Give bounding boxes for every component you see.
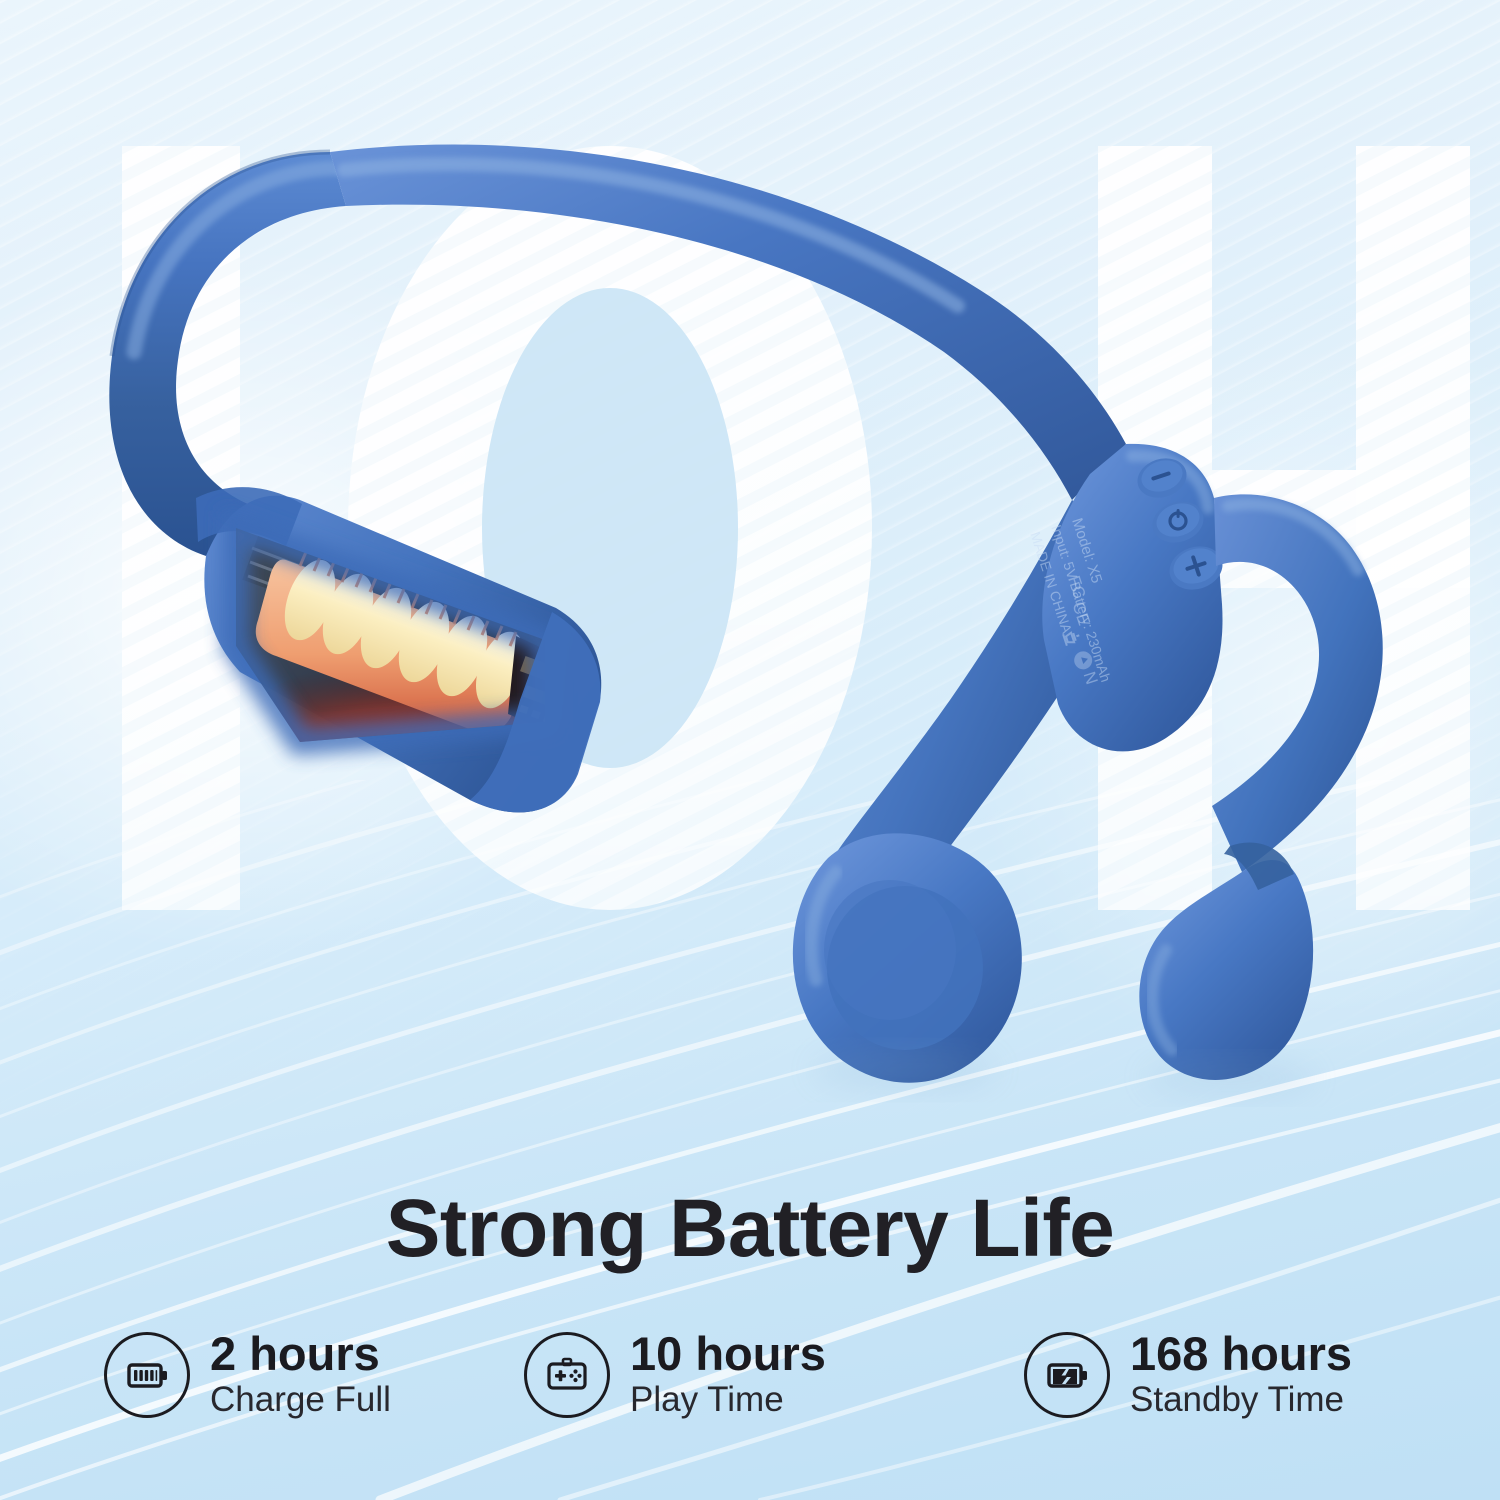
feature-standby-time: 168 hours Standby Time [1024,1330,1404,1420]
battery-full-icon [104,1332,190,1418]
feature-text: 168 hours Standby Time [1130,1330,1352,1420]
product-illustration: Model: X5 Input: 5V Battery: 230mAh MADE… [0,0,1500,1500]
feature-label: Standby Time [1130,1380,1352,1420]
feature-charge-full: 2 hours Charge Full [104,1330,524,1420]
feature-label: Play Time [630,1380,826,1420]
page-title: Strong Battery Life [0,1188,1500,1270]
feature-text: 2 hours Charge Full [210,1330,391,1420]
product-marketing-image: Model: X5 Input: 5V Battery: 230mAh MADE… [0,0,1500,1500]
feature-play-time: 10 hours Play Time [524,1330,1024,1420]
feature-value: 10 hours [630,1330,826,1378]
feature-value: 168 hours [1130,1330,1352,1378]
feature-value: 2 hours [210,1330,391,1378]
feature-row: 2 hours Charge Full [104,1330,1404,1420]
ear-hook-right [1212,494,1383,872]
battery-charging-icon [1024,1332,1110,1418]
gamepad-icon [524,1332,610,1418]
feature-label: Charge Full [210,1380,391,1420]
feature-text: 10 hours Play Time [630,1330,826,1420]
